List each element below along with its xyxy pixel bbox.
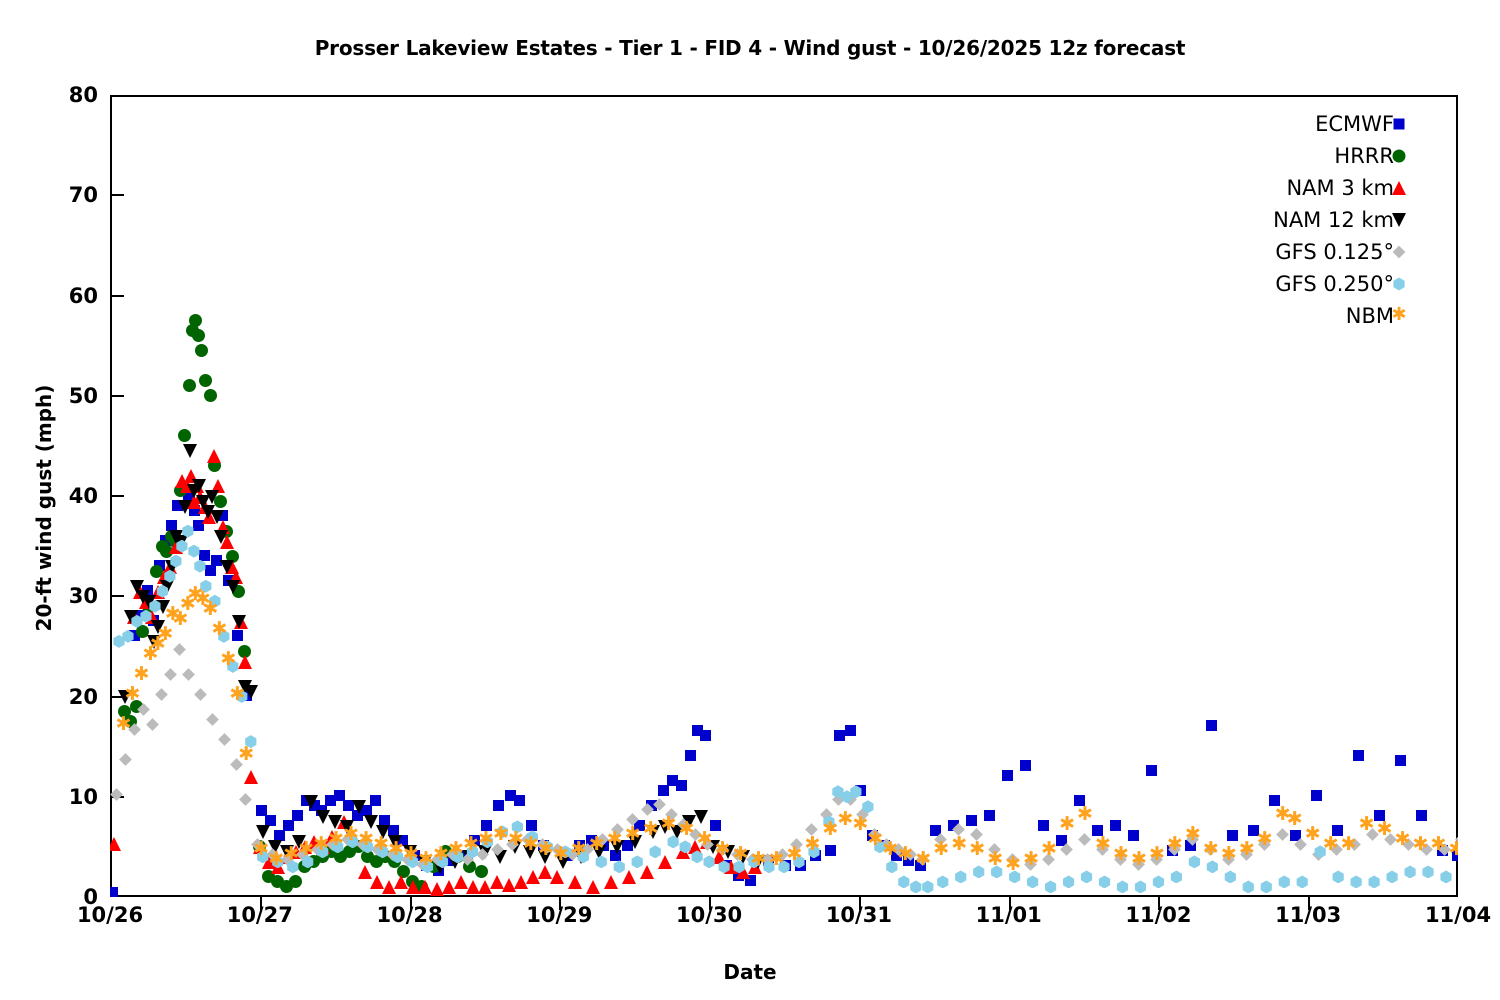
legend-marker-triangle-up-icon [1390,179,1408,197]
x-tick-label: 11/04 [1398,903,1500,927]
data-point: ✱ [478,830,494,849]
chart-title: Prosser Lakeview Estates - Tier 1 - FID … [0,36,1500,60]
data-point: ✱ [403,845,419,864]
data-point: ✱ [1185,825,1201,844]
data-point: ✱ [951,835,967,854]
legend-item[interactable]: NAM 3 km [1150,172,1420,204]
x-tick-mark [260,897,262,910]
data-point: ✱ [1203,840,1219,859]
data-point: ✱ [1359,815,1375,834]
legend: ECMWFHRRRNAM 3 kmNAM 12 kmGFS 0.125°GFS … [1150,108,1420,332]
data-point: ✱ [229,685,245,704]
legend-marker-square-icon [1390,115,1408,133]
data-point: ✱ [1131,850,1147,869]
data-point: ✱ [882,840,898,859]
legend-item[interactable]: GFS 0.125° [1150,236,1420,268]
data-point: ✱ [463,835,479,854]
data-point: ✱ [661,815,677,834]
data-point: ✱ [897,845,913,864]
data-point: ✱ [553,845,569,864]
data-point: ✱ [1377,820,1393,839]
data-point: ✱ [523,835,539,854]
data-point: ✱ [1077,805,1093,824]
legend-item[interactable]: ECMWF [1150,108,1420,140]
legend-label: ECMWF [1315,112,1394,136]
data-point: ✱ [268,850,284,869]
data-point: ✱ [1005,855,1021,874]
data-point: ✱ [388,840,404,859]
y-axis-label: 20-ft wind gust (mph) [32,108,56,908]
legend-item[interactable]: GFS 0.250° [1150,268,1420,300]
chart-canvas: Prosser Lakeview Estates - Tier 1 - FID … [0,0,1500,1000]
data-point: ✱ [786,845,802,864]
legend-item[interactable]: HRRR [1150,140,1420,172]
data-point: ✱ [1023,850,1039,869]
legend-label: NAM 12 km [1273,208,1394,232]
data-point: ✱ [1059,815,1075,834]
data-point: ✱ [1395,830,1411,849]
data-point: ✱ [867,830,883,849]
data-point: ✱ [418,850,434,869]
data-point: ✱ [915,850,931,869]
data-point: ✱ [283,845,299,864]
data-point: ✱ [571,840,587,859]
data-point: ✱ [1167,835,1183,854]
legend-label: NAM 3 km [1286,176,1394,200]
data-point: ✱ [643,820,659,839]
data-point: ✱ [115,715,131,734]
data-point: ✱ [493,825,509,844]
data-point: ✱ [1149,845,1165,864]
data-point: ✱ [1257,830,1273,849]
data-point: ✱ [202,600,218,619]
data-point: ✱ [1221,845,1237,864]
x-tick-mark [859,897,861,910]
data-point: ✱ [433,845,449,864]
data-point: ✱ [607,830,623,849]
data-point: ✱ [1239,840,1255,859]
x-tick-mark [410,897,412,910]
data-point: ✱ [358,830,374,849]
data-point: ✱ [1413,835,1429,854]
data-point: ✱ [373,835,389,854]
data-point: ✱ [1341,835,1357,854]
legend-label: HRRR [1334,144,1394,168]
data-point: ✱ [625,825,641,844]
data-point: ✱ [822,820,838,839]
data-point: ✱ [697,830,713,849]
data-point: ✱ [328,830,344,849]
data-point: ✱ [157,625,173,644]
data-point: ✱ [538,840,554,859]
x-tick-mark [559,897,561,910]
data-point: ✱ [448,840,464,859]
legend-item[interactable]: NAM 12 km [1150,204,1420,236]
data-point: ✱ [1431,835,1447,854]
x-axis-label: Date [0,960,1500,984]
data-point: ✱ [769,850,785,869]
data-point: ✱ [733,845,749,864]
legend-marker-circle-icon [1390,147,1408,165]
data-point: ✱ [1287,810,1303,829]
data-point: ✱ [1305,825,1321,844]
y-tick-label: 80 [20,83,98,107]
data-point: ✱ [715,840,731,859]
legend-marker-diamond-icon [1390,243,1408,261]
x-tick-mark [1009,897,1011,910]
data-point: ✱ [1323,835,1339,854]
legend-label: GFS 0.125° [1275,240,1394,264]
legend-marker-hexagon-icon [1390,275,1408,293]
data-point: ✱ [837,810,853,829]
data-point: ✱ [343,825,359,844]
data-point: ✱ [987,850,1003,869]
x-tick-mark [1158,897,1160,910]
data-point: ✱ [679,820,695,839]
x-tick-label: 10/26 [50,903,170,927]
legend-marker-triangle-down-icon [1390,211,1408,229]
data-point: ✱ [589,835,605,854]
data-point: ✱ [313,835,329,854]
data-point: ✱ [133,665,149,684]
legend-item[interactable]: NBM✱ [1150,300,1420,332]
data-point: ✱ [220,650,236,669]
data-point: ✱ [969,840,985,859]
data-point: ✱ [804,835,820,854]
data-point: ✱ [852,815,868,834]
data-point: ✱ [238,745,254,764]
data-point: ✱ [253,840,269,859]
data-point: ✱ [508,830,524,849]
x-tick-mark [709,897,711,910]
data-point: ✱ [211,620,227,639]
data-point: ✱ [1113,845,1129,864]
data-point: ✱ [1095,835,1111,854]
data-point: ✱ [933,840,949,859]
legend-label: NBM [1346,304,1394,328]
legend-label: GFS 0.250° [1275,272,1394,296]
data-point: ✱ [751,850,767,869]
data-point: ✱ [124,685,140,704]
data-point: ✱ [1041,840,1057,859]
x-tick-mark [1308,897,1310,910]
data-point: ✱ [298,840,314,859]
legend-marker-asterisk-icon: ✱ [1390,307,1408,325]
data-point: ✱ [1449,840,1459,859]
